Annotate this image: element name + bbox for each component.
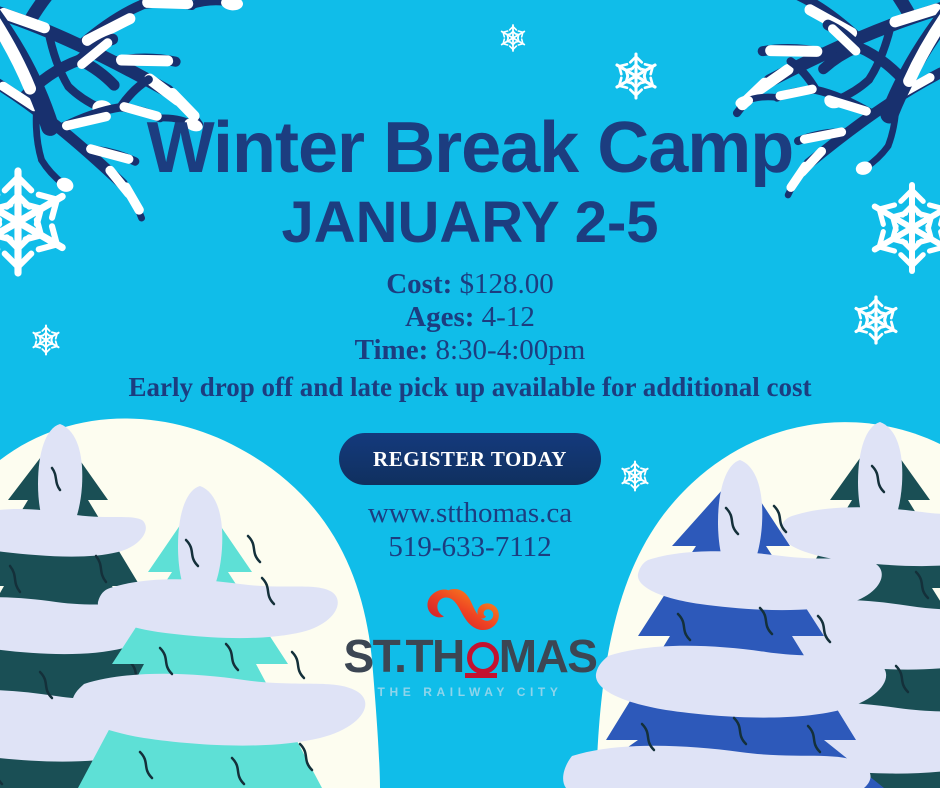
website-link[interactable]: www.stthomas.ca [0, 496, 940, 530]
red-ring-o-icon [465, 641, 498, 674]
detail-label-cost: Cost: [386, 268, 452, 300]
detail-label-ages: Ages: [405, 301, 474, 333]
register-today-button[interactable]: REGISTER TODAY [339, 433, 601, 485]
logo-wordmark-part2: MAS [499, 630, 597, 682]
page-title: Winter Break Camp [0, 112, 940, 184]
winter-break-camp-poster: Winter Break Camp JANUARY 2-5 Cost: $128… [0, 0, 940, 788]
detail-row-cost: Cost: $128.00 [0, 268, 940, 301]
detail-row-ages: Ages: 4-12 [0, 301, 940, 334]
detail-label-time: Time: [355, 334, 429, 366]
logo-wordmark-part1: ST.TH [343, 630, 463, 682]
logo-wordmark: ST.THMAS [343, 633, 596, 679]
page-subtitle-dates: JANUARY 2-5 [0, 194, 940, 252]
detail-value-cost: $128.00 [460, 268, 554, 300]
detail-row-time: Time: 8:30-4:00pm [0, 334, 940, 367]
flame-swirl-icon [424, 588, 516, 636]
detail-value-ages: 4-12 [482, 301, 535, 333]
additional-cost-note: Early drop off and late pick up availabl… [0, 370, 940, 404]
camp-details-list: Cost: $128.00 Ages: 4-12 Time: 8:30-4:00… [0, 268, 940, 404]
phone-number[interactable]: 519-633-7112 [0, 530, 940, 564]
st-thomas-logo: ST.THMAS THE RAILWAY CITY [340, 588, 600, 699]
contact-block: www.stthomas.ca 519-633-7112 [0, 496, 940, 564]
detail-value-time: 8:30-4:00pm [435, 334, 585, 366]
logo-tagline: THE RAILWAY CITY [340, 685, 600, 699]
